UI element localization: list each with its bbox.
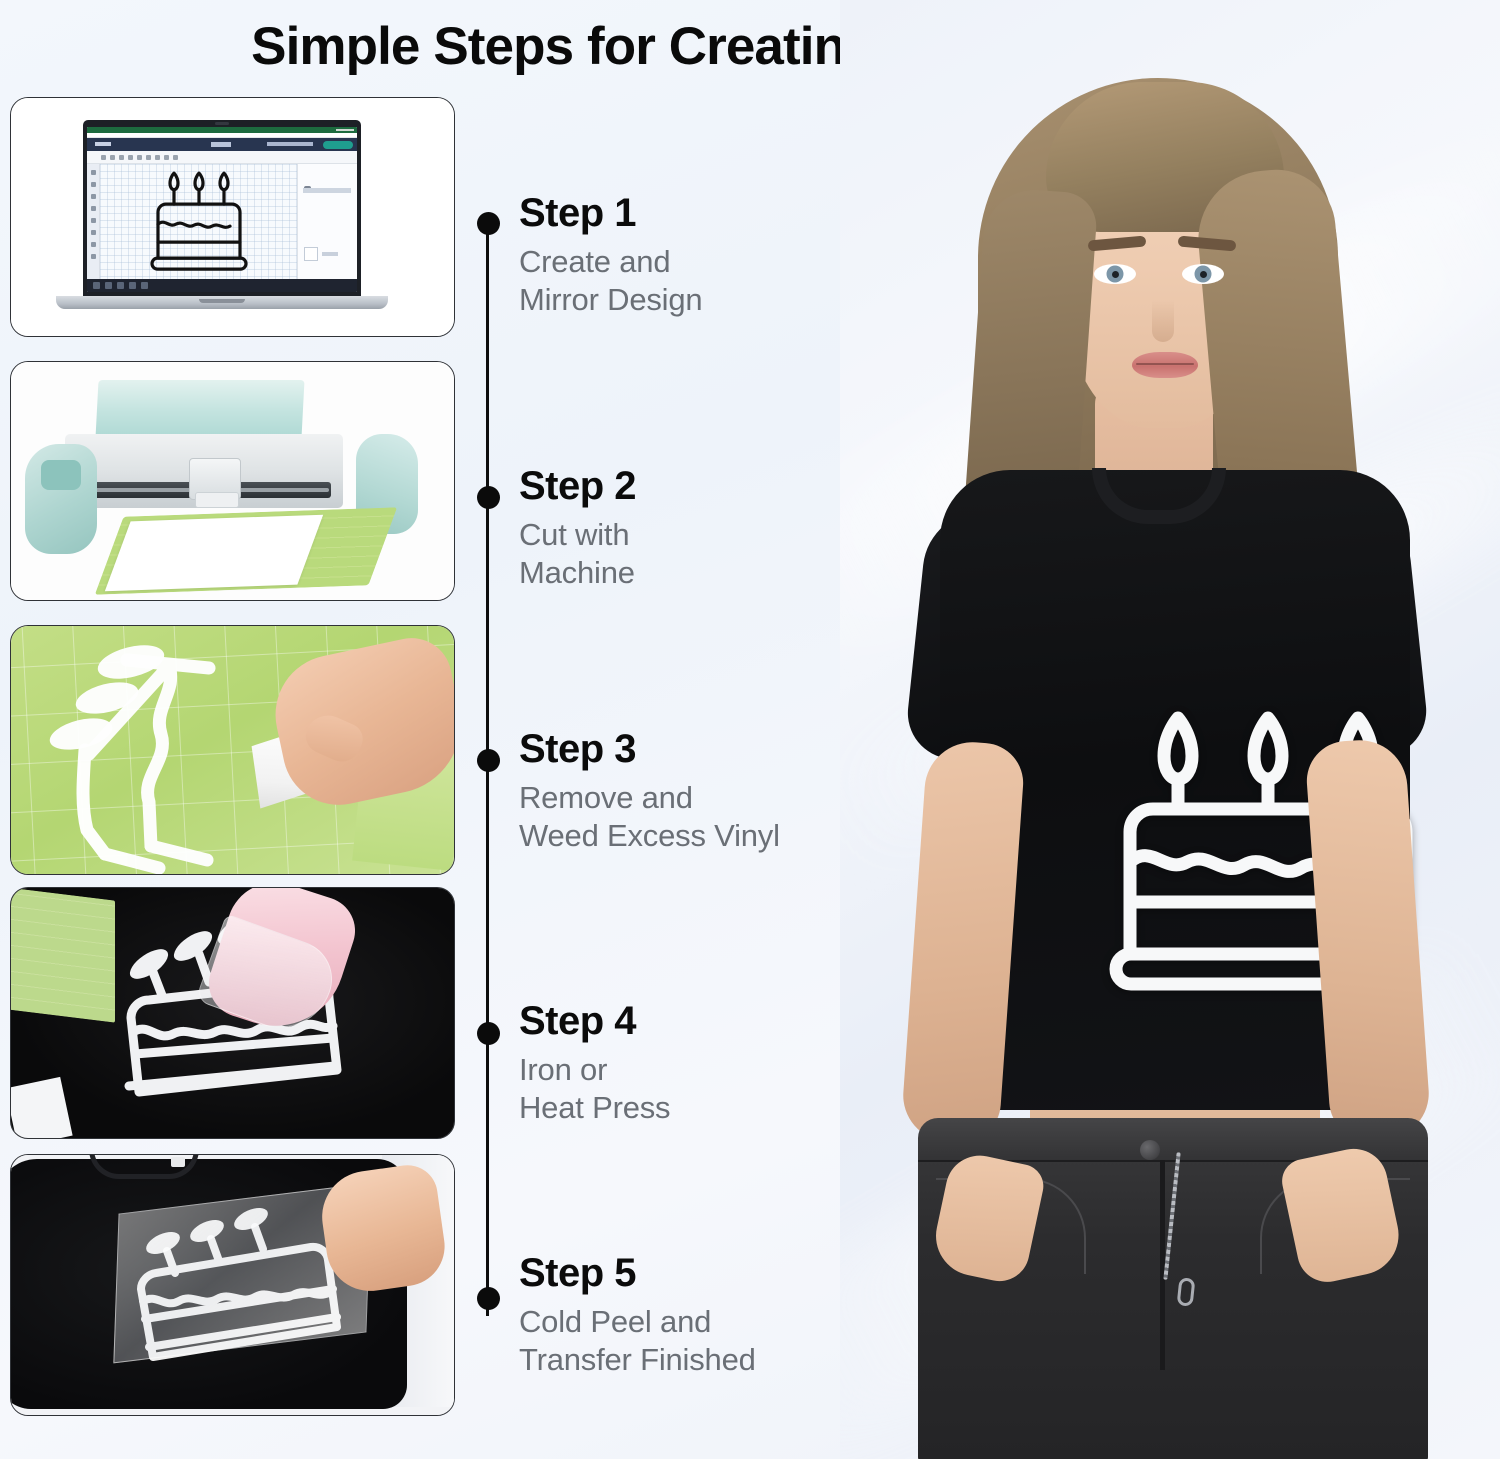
step-5-desc-line-2: Transfer Finished [519,1341,849,1379]
machine-lid [95,380,304,438]
search-icon[interactable] [105,282,112,289]
model-photo [840,0,1500,1459]
layer-row[interactable] [303,188,351,193]
arrange-icon[interactable] [137,155,142,160]
app-toolbar [87,151,357,164]
folder-icon[interactable] [129,282,136,289]
cold-peel-photo [11,1155,454,1415]
undo-icon[interactable] [101,155,106,160]
app-left-toolrail [87,164,100,279]
model-eye-left [1094,264,1136,284]
step-5-desc-line-1: Cold Peel and [519,1303,849,1341]
laptop-camera-notch [215,122,229,125]
step-5-thumbnail-card[interactable] [10,1154,455,1416]
mirror-icon[interactable] [119,155,124,160]
timeline [480,212,496,1322]
jeans-button [1140,1140,1160,1160]
timeline-dot-3 [477,749,500,772]
timeline-dot-5 [477,1287,500,1310]
color-swatch[interactable] [304,247,318,261]
timeline-dot-1 [477,212,500,235]
step-3-block: Step 3 Remove and Weed Excess Vinyl [519,728,849,855]
step-1-desc-line-2: Mirror Design [519,281,849,319]
step-2-thumbnail-card[interactable] [10,361,455,601]
projects-icon[interactable] [91,194,96,199]
machine-left-storage-cup [25,444,97,554]
images-icon[interactable] [91,206,96,211]
step-2-desc-line-2: Machine [519,554,849,592]
step-3-title: Step 3 [519,728,849,770]
step-5-title: Step 5 [519,1252,849,1294]
step-4-thumbnail-card[interactable] [10,887,455,1139]
templates-icon[interactable] [91,182,96,187]
step-5-description: Cold Peel and Transfer Finished [519,1303,849,1379]
heat-press-photo [11,888,454,1138]
step-2-block: Step 2 Cut with Machine [519,465,849,592]
step-1-thumbnail-card[interactable] [10,97,455,337]
step-5-block: Step 5 Cold Peel and Transfer Finished [519,1252,849,1379]
app-top-navbar [87,138,357,151]
browser-icon[interactable] [117,282,124,289]
step-2-description: Cut with Machine [519,516,849,592]
app-logo [95,142,111,146]
design-app-window [87,127,357,292]
cake-design-on-canvas[interactable] [140,170,258,278]
step-3-desc-line-2: Weed Excess Vinyl [519,817,849,855]
step-3-desc-line-1: Remove and [519,779,849,817]
size-icon[interactable] [155,155,160,160]
upload-icon[interactable] [91,242,96,247]
app-icon[interactable] [141,282,148,289]
os-taskbar [87,279,357,292]
iris [1195,266,1212,283]
color-label [322,252,338,256]
model-lips [1132,352,1198,378]
monogram-icon[interactable] [91,254,96,259]
step-2-title: Step 2 [519,465,849,507]
step-4-title: Step 4 [519,1000,849,1042]
step-4-desc-line-2: Heat Press [519,1089,849,1127]
step-4-desc-line-1: Iron or [519,1051,849,1089]
cutting-machine-photo [11,362,454,600]
laptop-screen [83,120,361,296]
shapes-icon[interactable] [91,230,96,235]
text-icon[interactable] [91,218,96,223]
align-icon[interactable] [128,155,133,160]
green-mat-corner [10,887,115,1022]
step-1-title: Step 1 [519,192,849,234]
app-window-titlebar [87,127,357,133]
new-icon[interactable] [91,170,96,175]
timeline-dot-4 [477,1022,500,1045]
redo-icon[interactable] [110,155,115,160]
model-nose [1152,300,1174,342]
step-1-desc-line-1: Create and [519,243,849,281]
model-eye-right [1182,264,1224,284]
step-4-block: Step 4 Iron or Heat Press [519,1000,849,1127]
step-2-desc-line-1: Cut with [519,516,849,554]
machine-blade-carriage [189,458,241,500]
start-icon[interactable] [93,282,100,289]
project-name-field [211,142,231,147]
app-layers-panel[interactable] [297,164,357,279]
app-workspace [87,164,357,279]
iris [1107,266,1124,283]
white-vinyl-sheet [105,515,323,592]
step-4-description: Iron or Heat Press [519,1051,849,1127]
machine-selector [267,142,313,146]
step-thumbnail-column [10,97,460,1447]
laptop-design-software-photo [11,98,454,336]
weeding-vinyl-photo [11,626,454,874]
design-canvas-grid[interactable] [100,164,297,279]
tshirt-size-tag [171,1157,185,1167]
step-3-description: Remove and Weed Excess Vinyl [519,779,849,855]
step-1-block: Step 1 Create and Mirror Design [519,192,849,319]
step-3-thumbnail-card[interactable] [10,625,455,875]
timeline-dot-2 [477,486,500,509]
flip-icon[interactable] [146,155,151,160]
make-it-button[interactable] [323,141,353,149]
position-icon[interactable] [173,155,178,160]
rotate-icon[interactable] [164,155,169,160]
laptop-base [56,296,388,309]
step-1-description: Create and Mirror Design [519,243,849,319]
